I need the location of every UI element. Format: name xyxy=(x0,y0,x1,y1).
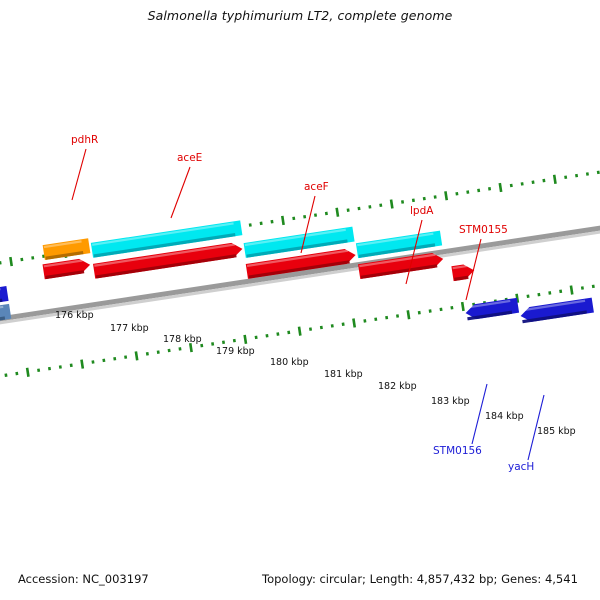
guide-tick xyxy=(564,175,567,179)
guide-tick xyxy=(363,319,366,323)
guide-tick xyxy=(325,212,328,216)
guide-tick xyxy=(303,215,306,219)
guide-tick xyxy=(597,171,600,175)
guide-tick xyxy=(357,207,360,211)
guide-tick xyxy=(396,314,399,318)
guide-tick xyxy=(440,308,443,312)
guide-tick xyxy=(455,192,458,196)
guide-tick xyxy=(434,195,437,199)
guide-tick xyxy=(91,360,94,364)
guide-tick xyxy=(548,291,551,295)
guide-tick xyxy=(461,302,465,311)
ruler-label: 184 kbp xyxy=(485,411,524,422)
callout-label-aceE[interactable]: aceE xyxy=(177,152,202,164)
callout-label-pdhR[interactable]: pdhR xyxy=(71,134,98,146)
guide-tick xyxy=(423,197,426,201)
guide-tick xyxy=(314,213,317,217)
guide-tick xyxy=(157,350,160,354)
guide-tick xyxy=(374,317,377,321)
ruler-label: 181 kbp xyxy=(324,369,363,380)
guide-tick xyxy=(347,208,350,212)
callout-leader-lpdA xyxy=(406,220,422,284)
ruler-label: 178 kbp xyxy=(163,334,202,345)
pdhR-cds[interactable] xyxy=(43,257,92,279)
guide-tick xyxy=(309,327,312,331)
genome-summary-label: Topology: circular; Length: 4,857,432 bp… xyxy=(262,572,578,586)
guide-tick xyxy=(124,355,127,359)
guide-tick xyxy=(510,184,513,188)
callout-leader-pdhR xyxy=(72,149,86,200)
guide-tick xyxy=(260,222,263,226)
guide-tick xyxy=(429,309,432,313)
guide-tick xyxy=(418,311,421,315)
guide-tick xyxy=(407,310,411,319)
guide-tick xyxy=(542,179,545,183)
callout-label-STM0156[interactable]: STM0156 xyxy=(433,445,482,457)
guide-tick xyxy=(37,368,40,372)
ruler-label: 179 kbp xyxy=(216,346,255,357)
guide-tick xyxy=(287,331,290,335)
guide-tick xyxy=(385,316,388,320)
guide-tick xyxy=(527,294,530,298)
genome-map-viewer: Salmonella typhimurium LT2, complete gen… xyxy=(0,0,600,600)
guide-tick xyxy=(586,172,589,176)
guide-tick xyxy=(342,322,345,326)
ruler-label: 176 kbp xyxy=(55,310,94,321)
guide-tick xyxy=(559,290,562,294)
guide-tick xyxy=(0,261,2,265)
guide-tick xyxy=(243,335,247,344)
guide-tick xyxy=(146,352,149,356)
guide-tick xyxy=(320,326,323,330)
guide-tick xyxy=(368,205,371,209)
ruler-label: 185 kbp xyxy=(537,426,576,437)
guide-tick xyxy=(113,357,116,361)
guide-tick xyxy=(444,191,448,200)
guide-tick xyxy=(521,182,524,186)
guide-tick xyxy=(466,190,469,194)
genome-map-canvas: 176 kbp177 kbp178 kbp179 kbp180 kbp181 k… xyxy=(0,0,600,600)
guide-tick xyxy=(249,223,252,227)
guide-tick xyxy=(15,372,18,376)
callout-leader-aceE xyxy=(171,167,190,218)
guide-tick xyxy=(401,200,404,204)
yacH-cds[interactable] xyxy=(519,298,593,324)
guide-tick xyxy=(570,285,574,294)
guide-tick xyxy=(276,332,279,336)
accession-label: Accession: NC_003197 xyxy=(18,572,149,586)
guide-tick xyxy=(31,256,34,260)
guide-rail-bottom xyxy=(0,272,600,385)
guide-tick xyxy=(135,351,139,360)
STM0156-cds[interactable] xyxy=(464,298,519,321)
guide-tick xyxy=(255,336,258,340)
guide-tick xyxy=(450,306,453,310)
guide-tick xyxy=(553,175,557,184)
rotated-map-group xyxy=(0,67,600,494)
guide-tick xyxy=(335,208,339,217)
guide-tick xyxy=(379,203,382,207)
guide-tick xyxy=(70,364,73,368)
guide-tick xyxy=(211,342,214,346)
map-layer xyxy=(0,67,600,494)
guide-tick xyxy=(390,199,394,208)
ruler-label: 182 kbp xyxy=(378,381,417,392)
guide-tick xyxy=(488,187,491,191)
guide-tick xyxy=(80,359,84,368)
ruler-label: 183 kbp xyxy=(431,396,470,407)
guide-tick xyxy=(298,327,302,336)
guide-tick xyxy=(59,365,62,369)
guide-tick xyxy=(26,368,30,377)
guide-tick xyxy=(281,216,285,225)
guide-tick xyxy=(537,293,540,297)
guide-tick xyxy=(532,180,535,184)
guide-tick xyxy=(581,286,584,290)
ruler-label: 177 kbp xyxy=(110,323,149,334)
guide-tick xyxy=(178,347,181,351)
guide-tick xyxy=(9,257,13,266)
left-edge-gene-1[interactable] xyxy=(0,286,9,304)
guide-tick xyxy=(292,217,295,221)
guide-tick xyxy=(412,199,415,203)
ruler-label: 180 kbp xyxy=(270,357,309,368)
guide-tick xyxy=(592,285,595,289)
guide-tick xyxy=(48,367,51,371)
guide-tick xyxy=(233,339,236,343)
gene-shadow-edge xyxy=(0,299,2,304)
guide-tick xyxy=(168,349,171,353)
guide-tick xyxy=(4,373,7,377)
guide-tick xyxy=(477,189,480,193)
callout-label-lpdA[interactable]: lpdA xyxy=(410,205,434,217)
guide-tick xyxy=(222,341,225,345)
guide-tick xyxy=(352,318,356,327)
guide-tick xyxy=(265,334,268,338)
guide-tick xyxy=(331,324,334,328)
callout-label-STM0155[interactable]: STM0155 xyxy=(459,224,508,236)
guide-tick xyxy=(270,220,273,224)
callout-label-aceF[interactable]: aceF xyxy=(304,181,329,193)
guide-tick xyxy=(102,359,105,363)
guide-tick xyxy=(20,258,23,262)
callout-label-yacH[interactable]: yacH xyxy=(508,461,534,473)
guide-tick xyxy=(575,174,578,178)
guide-tick xyxy=(499,183,503,192)
